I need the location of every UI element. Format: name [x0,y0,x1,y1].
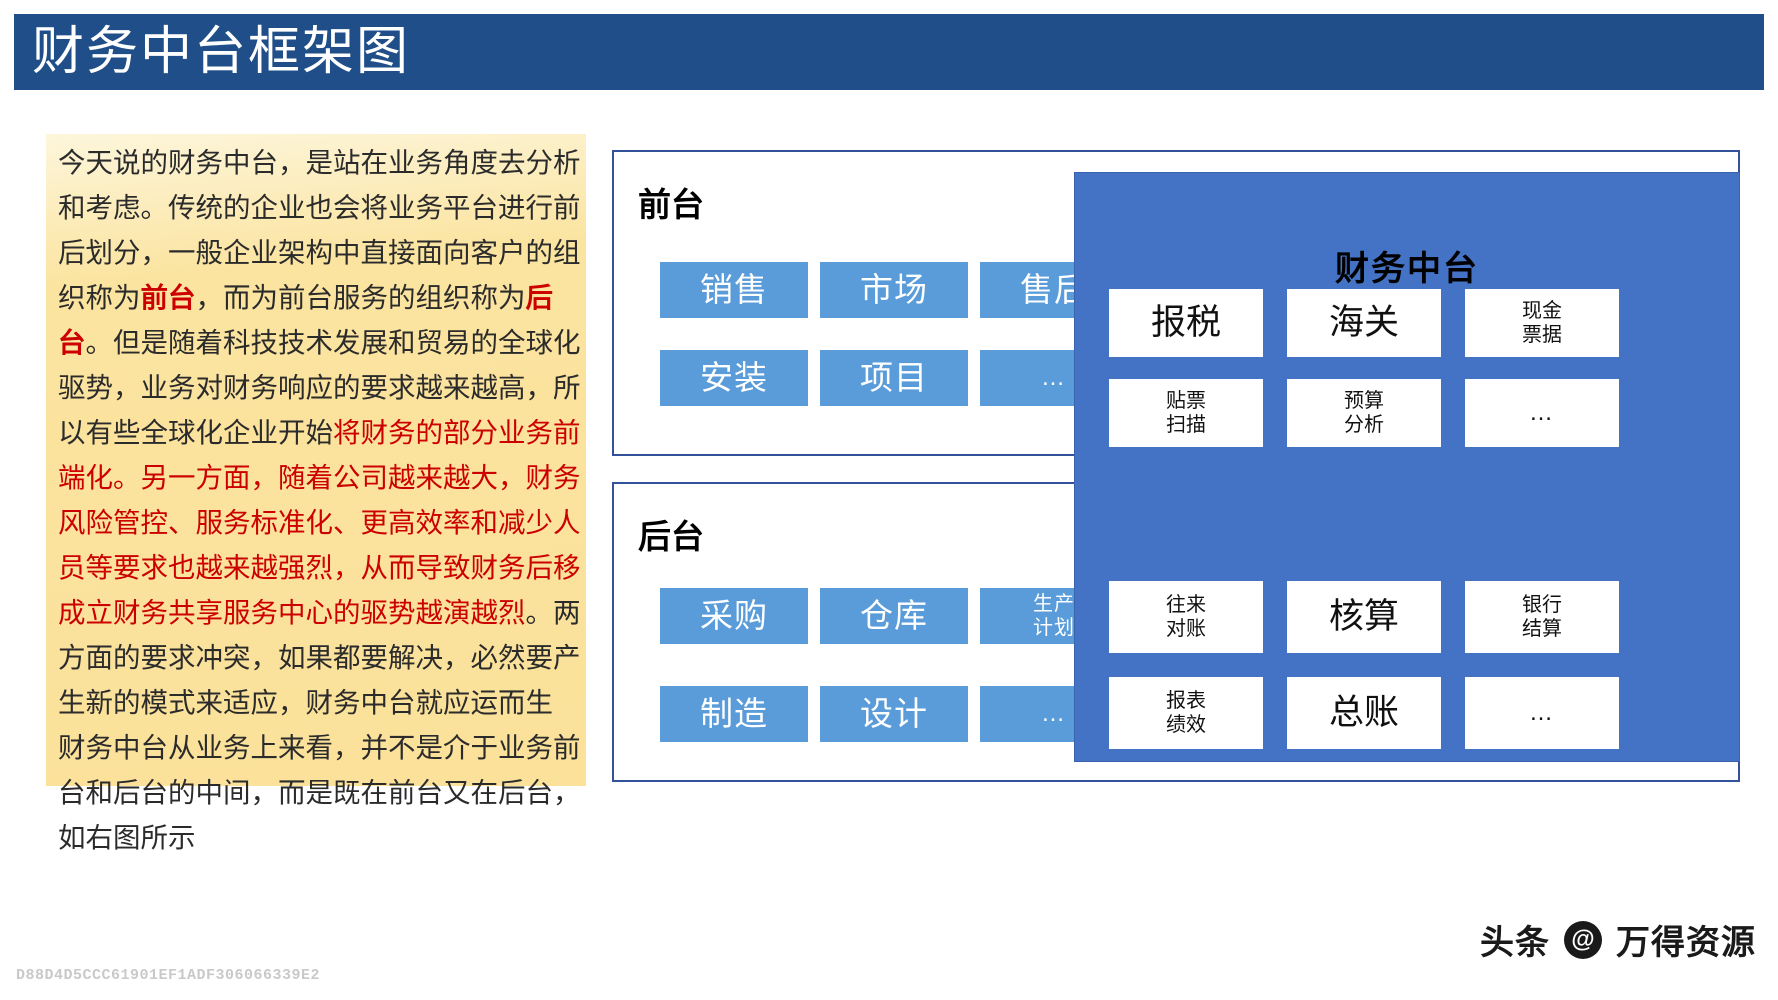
front-chip-project[interactable]: 项目 [820,350,968,406]
front-chip-install[interactable]: 安装 [660,350,808,406]
finance-middle-platform-title: 财务中台 [1075,241,1739,290]
title-banner: 财务中台框架图 [14,14,1764,90]
front-chip-market[interactable]: 市场 [820,262,968,318]
watermark: 头条 @ 万得资源 [1480,915,1756,964]
document-hash-id: D88D4D5CCC61901EF1ADF306066339E2 [16,967,320,984]
mid-cell-bank-settlement[interactable]: 银行结算 [1465,581,1619,653]
note-seg-9: 财务中台从业务上来看，并不是介于业务前台和后台的中间，而是既在前台又在后台，如右… [58,732,581,853]
watermark-source: 头条 [1480,915,1550,964]
note-seg-3: ，而为前台服务的组织称为 [196,282,526,313]
mid-cell-budget-analysis[interactable]: 预算分析 [1287,379,1441,447]
mid-cell-accounting[interactable]: 核算 [1287,581,1441,653]
front-chip-sales[interactable]: 销售 [660,262,808,318]
mid-cell-general-ledger[interactable]: 总账 [1287,677,1441,749]
back-chip-purchase[interactable]: 采购 [660,588,808,644]
mid-cell-more-2[interactable]: … [1465,677,1619,749]
watermark-logo-icon: @ [1564,921,1602,959]
mid-cell-cash-bills[interactable]: 现金票据 [1465,289,1619,357]
diagram-stage: 前台 后台 销售 市场 售后 安装 项目 … 采购 仓库 生产计划 制造 设计 … [608,140,1768,790]
back-chip-manufacture[interactable]: 制造 [660,686,808,742]
mid-cell-more-1[interactable]: … [1465,379,1619,447]
back-zone-label: 后台 [638,510,704,558]
mid-cell-invoice-scan[interactable]: 贴票扫描 [1109,379,1263,447]
page-title: 财务中台框架图 [14,26,410,78]
front-zone-label: 前台 [638,178,704,226]
back-chip-warehouse[interactable]: 仓库 [820,588,968,644]
watermark-account: 万得资源 [1616,915,1756,964]
note-seg-qiantai: 前台 [141,282,196,313]
mid-cell-report-performance[interactable]: 报表绩效 [1109,677,1263,749]
mid-cell-ar-ap-reconciliation[interactable]: 往来对账 [1109,581,1263,653]
slide-canvas: 财务中台框架图 今天说的财务中台，是站在业务角度去分析和考虑。传统的企业也会将业… [0,0,1778,1000]
back-chip-design[interactable]: 设计 [820,686,968,742]
mid-cell-tax[interactable]: 报税 [1109,289,1263,357]
note-body: 今天说的财务中台，是站在业务角度去分析和考虑。传统的企业也会将业务平台进行前后划… [58,140,588,860]
mid-cell-customs[interactable]: 海关 [1287,289,1441,357]
finance-middle-platform-panel: 财务中台 报税 海关 现金票据 贴票扫描 预算分析 … 往来对账 核算 银行结算… [1074,172,1740,762]
